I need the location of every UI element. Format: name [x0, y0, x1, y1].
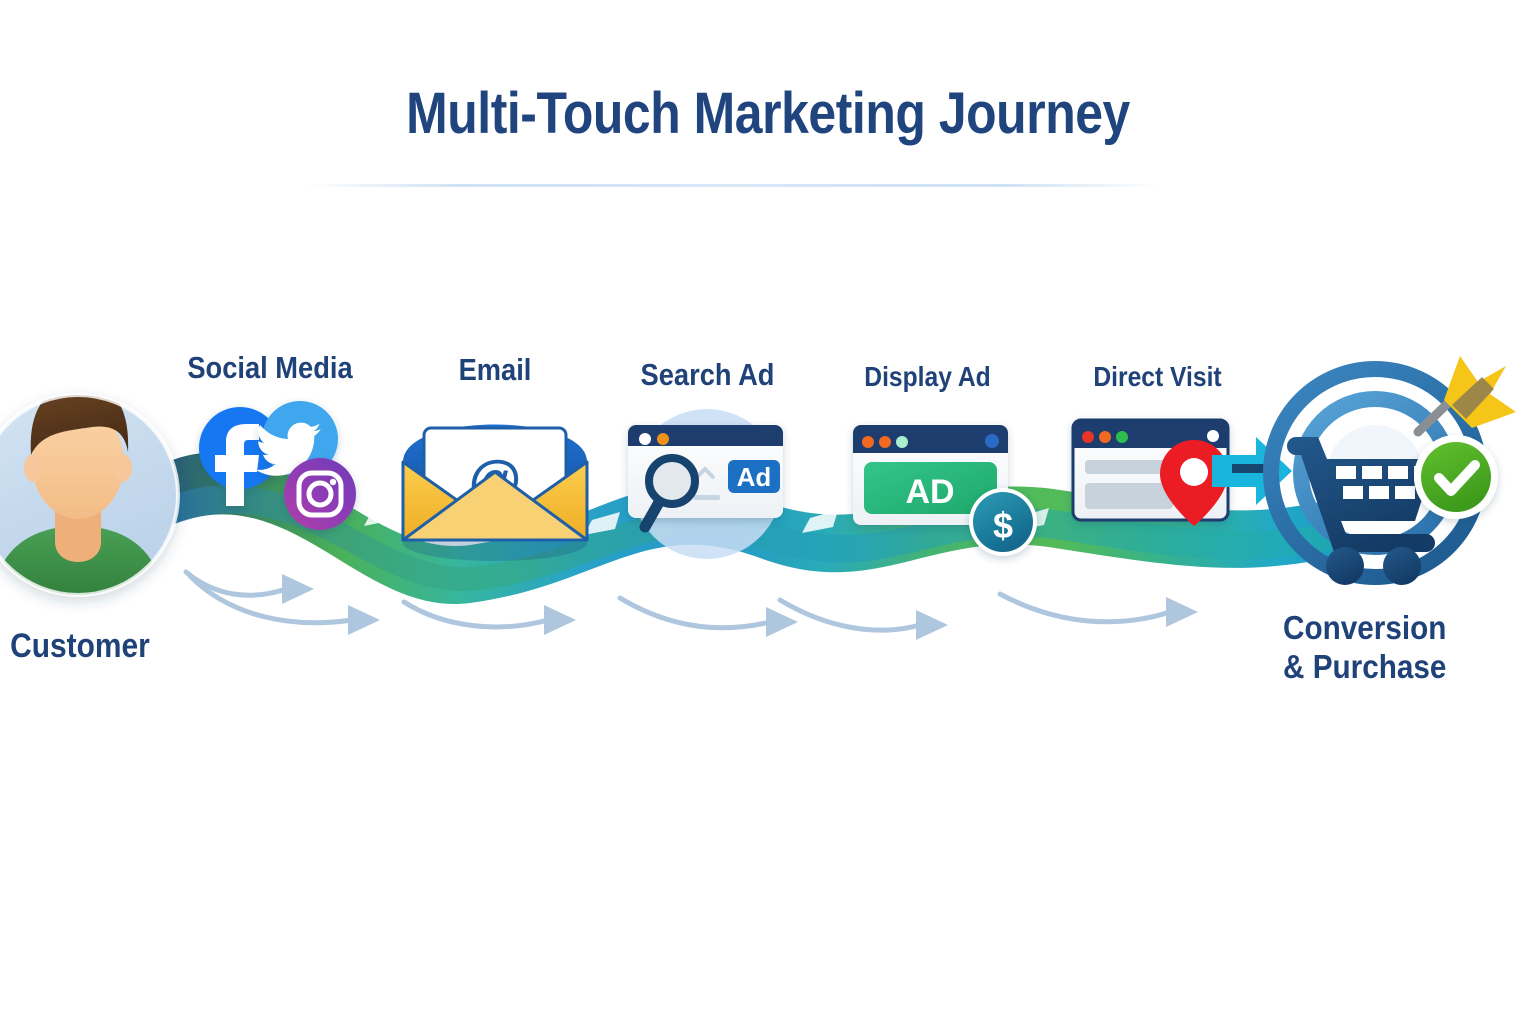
- customer-avatar-icon: [0, 385, 178, 610]
- display-ad-banner-label: AD: [905, 473, 954, 511]
- stage-connector-arrows: [186, 572, 1170, 630]
- stage-label-social-media: Social Media: [178, 350, 363, 386]
- end-label-line2: & Purchase: [1283, 647, 1490, 686]
- email-envelope-icon: @: [403, 425, 587, 562]
- start-label-customer: Customer: [10, 627, 151, 666]
- stage-label-email: Email: [429, 352, 561, 388]
- stage-label-display-ad: Display Ad: [855, 361, 1000, 393]
- infographic-canvas: Multi-Touch Marketing Journey: [0, 0, 1536, 1024]
- search-ad-badge-label: Ad: [737, 462, 772, 492]
- journey-illustration: @ Ad: [0, 0, 1536, 1024]
- dollar-coin-icon: $: [969, 488, 1037, 556]
- dollar-sign-label: $: [993, 505, 1013, 546]
- stage-label-direct-visit: Direct Visit: [1085, 361, 1230, 393]
- direct-visit-browser-icon: [1073, 420, 1228, 526]
- conversion-cart-target-icon: [1271, 356, 1516, 585]
- stage-label-search-ad: Search Ad: [626, 357, 789, 393]
- end-label-conversion: Conversion & Purchase: [1283, 608, 1490, 687]
- success-check-badge-icon: [1414, 435, 1498, 519]
- end-label-line1: Conversion: [1283, 608, 1490, 647]
- instagram-icon: [284, 458, 356, 530]
